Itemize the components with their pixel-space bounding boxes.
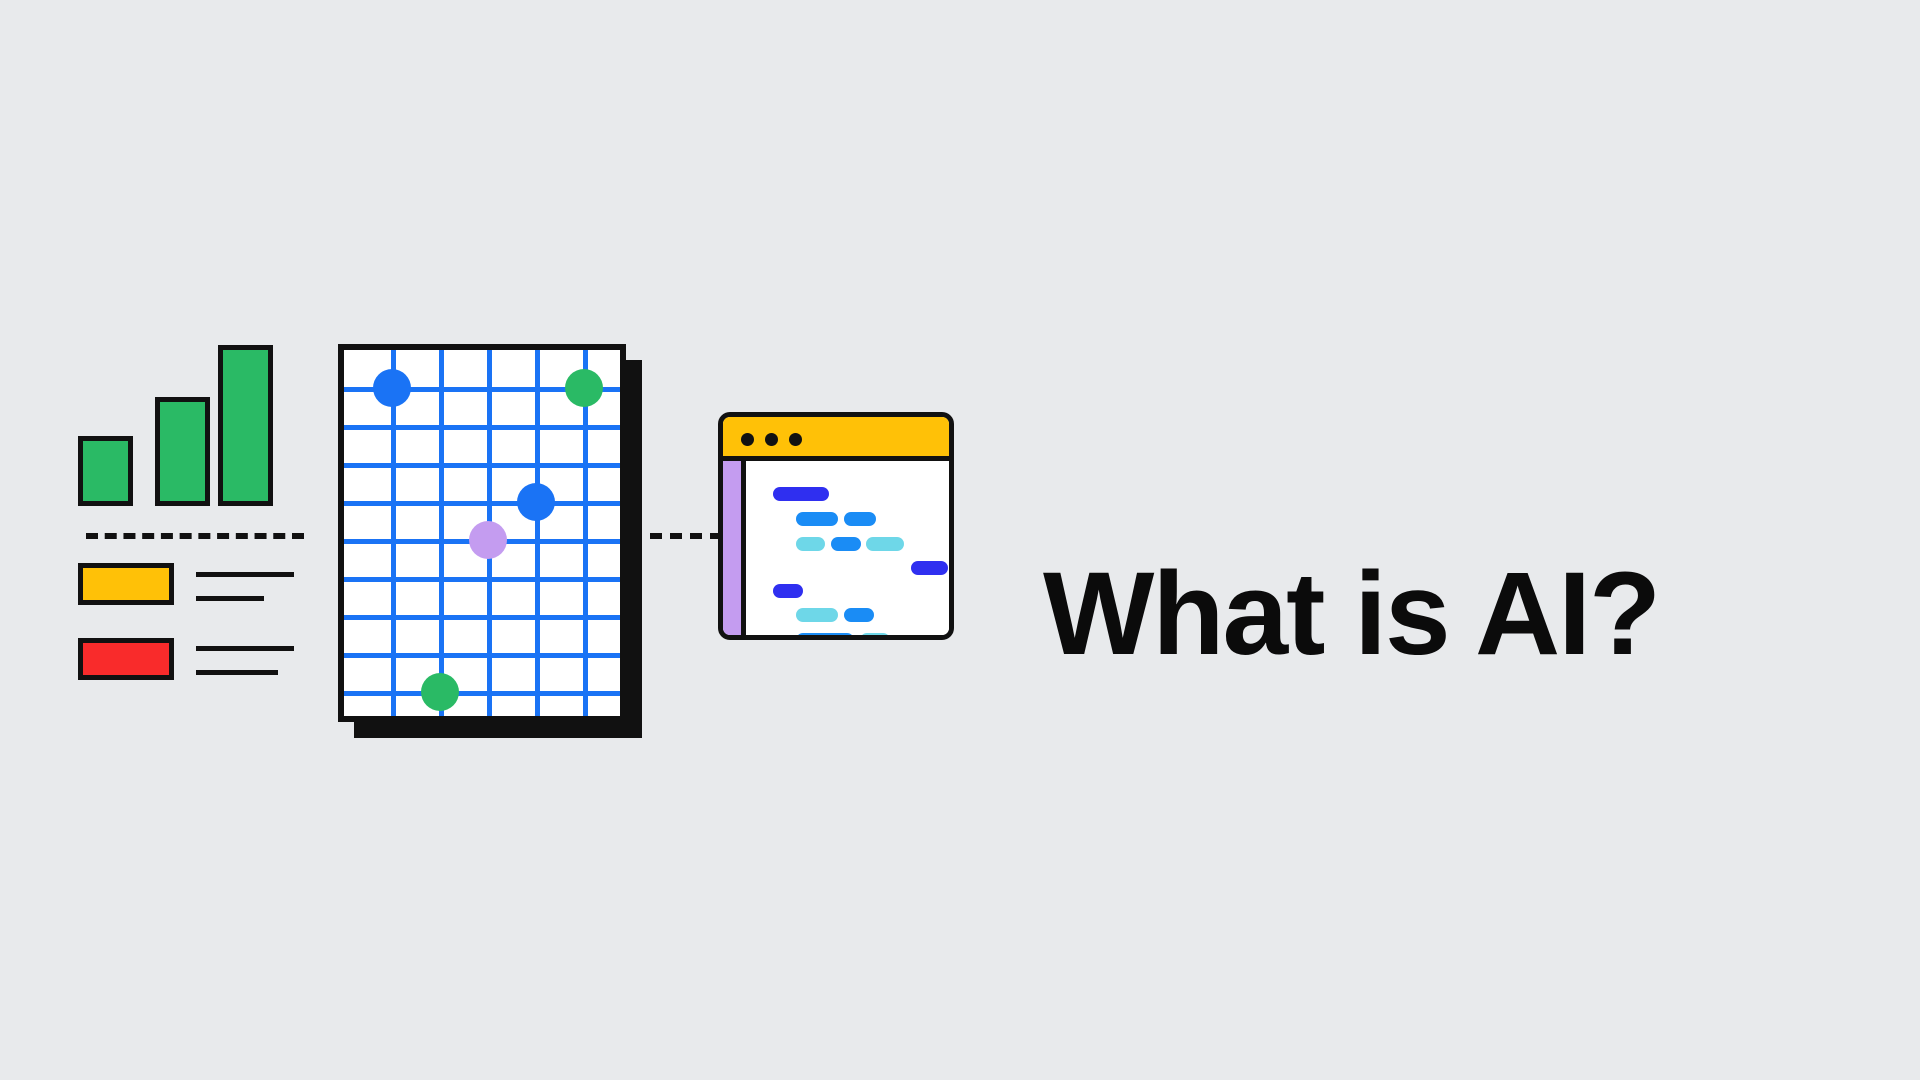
code-token-5 — [831, 537, 861, 551]
code-token-6 — [866, 537, 904, 551]
gridline-horizontal-8 — [344, 653, 620, 658]
gridline-vertical-4 — [535, 350, 540, 716]
gridline-horizontal-7 — [344, 615, 620, 620]
gridline-horizontal-9 — [344, 691, 620, 696]
legend-rule-yellow-1 — [196, 572, 294, 577]
code-token-11 — [796, 633, 854, 640]
bar-2 — [155, 397, 210, 506]
spreadsheet-panel[interactable] — [338, 344, 626, 722]
legend-swatch-red — [78, 638, 174, 680]
code-token-1 — [773, 487, 829, 501]
code-token-8 — [773, 584, 803, 598]
data-point-green-2[interactable] — [421, 673, 459, 711]
legend-swatch-yellow — [78, 563, 174, 605]
data-point-purple-1[interactable] — [469, 521, 507, 559]
data-point-blue-1[interactable] — [373, 369, 411, 407]
bar-1 — [78, 436, 133, 506]
legend-rule-red-1 — [196, 646, 294, 651]
code-token-12 — [860, 633, 890, 640]
gridline-horizontal-2 — [344, 425, 620, 430]
page-title: What is AI? — [1043, 555, 1659, 673]
code-token-9 — [796, 608, 838, 622]
code-window[interactable] — [718, 412, 954, 640]
illustration-canvas: What is AI? — [0, 0, 1920, 1080]
legend-rule-yellow-2 — [196, 596, 264, 601]
legend-rule-red-2 — [196, 670, 278, 675]
window-dot-1[interactable] — [741, 433, 754, 446]
window-dot-2[interactable] — [765, 433, 778, 446]
code-token-2 — [796, 512, 838, 526]
code-window-titlebar — [723, 417, 949, 461]
code-token-7 — [911, 561, 948, 575]
bar-3 — [218, 345, 273, 506]
code-token-10 — [844, 608, 874, 622]
connector-left — [86, 533, 304, 539]
code-token-3 — [844, 512, 876, 526]
gridline-vertical-2 — [439, 350, 444, 716]
connector-right — [650, 533, 722, 539]
gridline-horizontal-3 — [344, 463, 620, 468]
gridline-horizontal-6 — [344, 577, 620, 582]
code-window-body[interactable] — [746, 461, 949, 635]
data-point-blue-2[interactable] — [517, 483, 555, 521]
spreadsheet-grid — [344, 350, 620, 716]
window-dot-3[interactable] — [789, 433, 802, 446]
code-window-sidebar[interactable] — [723, 461, 746, 635]
gridline-horizontal-4 — [344, 501, 620, 506]
code-token-4 — [796, 537, 825, 551]
data-point-green-1[interactable] — [565, 369, 603, 407]
